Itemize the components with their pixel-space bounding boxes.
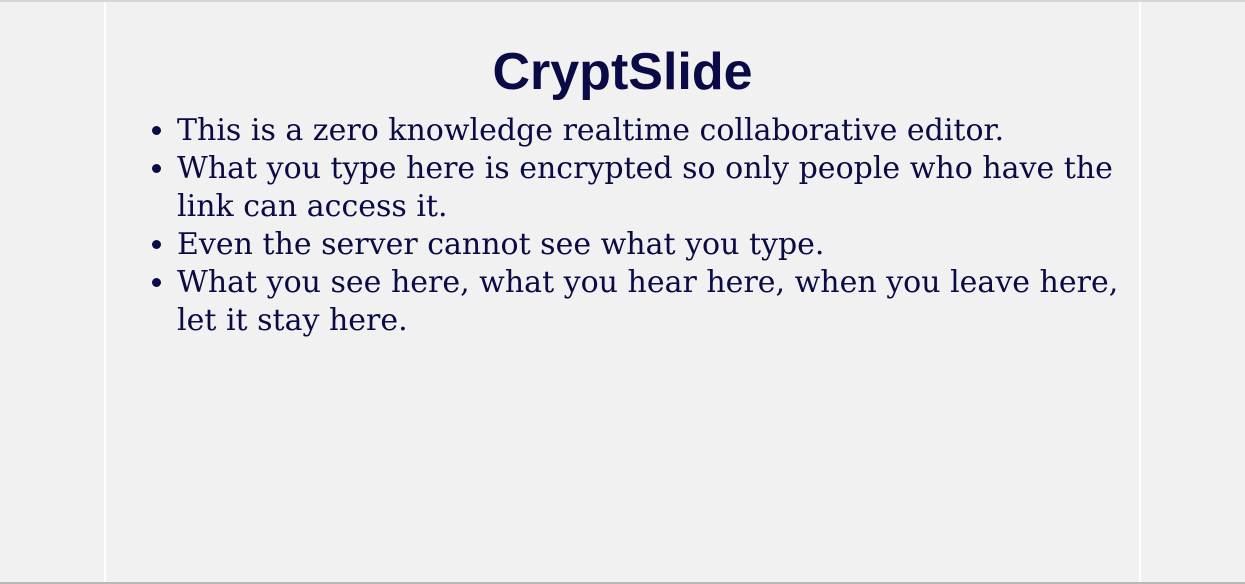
bullet-item[interactable]: What you type here is encrypted so only … bbox=[152, 150, 1139, 226]
slide-title[interactable]: CryptSlide bbox=[106, 2, 1139, 98]
bullet-text: What you see here, what you hear here, w… bbox=[177, 264, 1139, 340]
bullet-text: This is a zero knowledge realtime collab… bbox=[177, 112, 1139, 150]
slide-bullet-list[interactable]: This is a zero knowledge realtime collab… bbox=[106, 112, 1139, 340]
bullet-text: Even the server cannot see what you type… bbox=[177, 226, 1139, 264]
bullet-item[interactable]: This is a zero knowledge realtime collab… bbox=[152, 112, 1139, 150]
bullet-item[interactable]: What you see here, what you hear here, w… bbox=[152, 264, 1139, 340]
slide-canvas[interactable]: CryptSlide This is a zero knowledge real… bbox=[106, 2, 1139, 582]
bullet-marker-icon bbox=[152, 126, 161, 135]
right-gutter bbox=[1141, 2, 1245, 582]
bullet-item[interactable]: Even the server cannot see what you type… bbox=[152, 226, 1139, 264]
left-gutter bbox=[0, 2, 104, 582]
bullet-text: What you type here is encrypted so only … bbox=[177, 150, 1139, 226]
bullet-marker-icon bbox=[152, 240, 161, 249]
bullet-marker-icon bbox=[152, 278, 161, 287]
bullet-marker-icon bbox=[152, 164, 161, 173]
